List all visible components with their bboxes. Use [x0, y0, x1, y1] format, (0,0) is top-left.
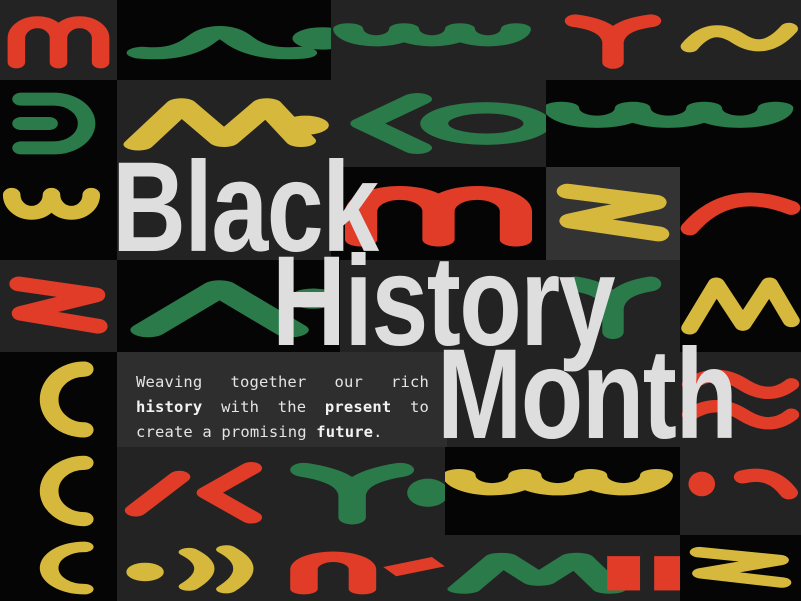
- motif-cell-r3c1: [0, 167, 117, 260]
- motif-scallop-row-icon: [546, 80, 801, 167]
- motif-c-hook-icon: [0, 352, 117, 447]
- motif-cell-r1c2: [117, 0, 331, 80]
- motif-wishbone-icon: [546, 0, 680, 80]
- motif-scribble-z-icon: [680, 535, 801, 601]
- tagline-emphasis: present: [325, 398, 391, 416]
- motif-arch-m-icon: [0, 0, 117, 80]
- motif-cell-r7c2: [117, 535, 273, 601]
- motif-cell-r1c4: [546, 0, 680, 80]
- motif-y-oval-icon: [273, 447, 445, 535]
- motif-n-bar-icon: [273, 535, 445, 601]
- motif-cell-r6c3: [273, 447, 445, 535]
- motif-cell-r1c1: [0, 0, 117, 80]
- motif-c-hook-icon: [0, 535, 117, 601]
- motif-cell-r6c2: [117, 447, 273, 535]
- tagline-text: Weaving together our rich history with t…: [136, 370, 429, 445]
- motif-peak-arc-dot-icon: [117, 0, 331, 80]
- motif-cell-r1c3: [331, 0, 546, 80]
- motif-wave-icon: [680, 0, 801, 80]
- motif-cell-r1c5: [680, 0, 801, 80]
- motif-cell-r6c1: [0, 447, 117, 535]
- motif-d-shape-icon: [0, 80, 117, 167]
- headline-word-month: Month: [437, 345, 736, 445]
- motif-cell-r2c1: [0, 80, 117, 167]
- motif-scribble-z-icon: [0, 260, 117, 352]
- motif-m-pillars-icon: [445, 535, 680, 601]
- tagline-emphasis: future: [316, 423, 373, 441]
- tagline-emphasis: history: [136, 398, 202, 416]
- motif-double-scallop-icon: [0, 167, 117, 260]
- motif-cell-r7c3: [273, 535, 445, 601]
- motif-arc-stroke-icon: [680, 167, 801, 260]
- motif-cell-r5c1: [0, 352, 117, 447]
- motif-dot-parens-icon: [117, 535, 273, 601]
- motif-cell-r2c4: [546, 80, 801, 167]
- motif-triple-scallop-icon: [331, 0, 546, 80]
- motif-cell-r3c5: [680, 167, 801, 260]
- motif-c-hook-icon: [0, 447, 117, 535]
- poster-canvas: Black History Month Weaving together our…: [0, 0, 801, 601]
- motif-cell-r7c4: [445, 535, 680, 601]
- motif-cell-r7c1: [0, 535, 117, 601]
- motif-slash-chevron-icon: [117, 447, 273, 535]
- motif-cell-r4c1: [0, 260, 117, 352]
- motif-cell-r7c5: [680, 535, 801, 601]
